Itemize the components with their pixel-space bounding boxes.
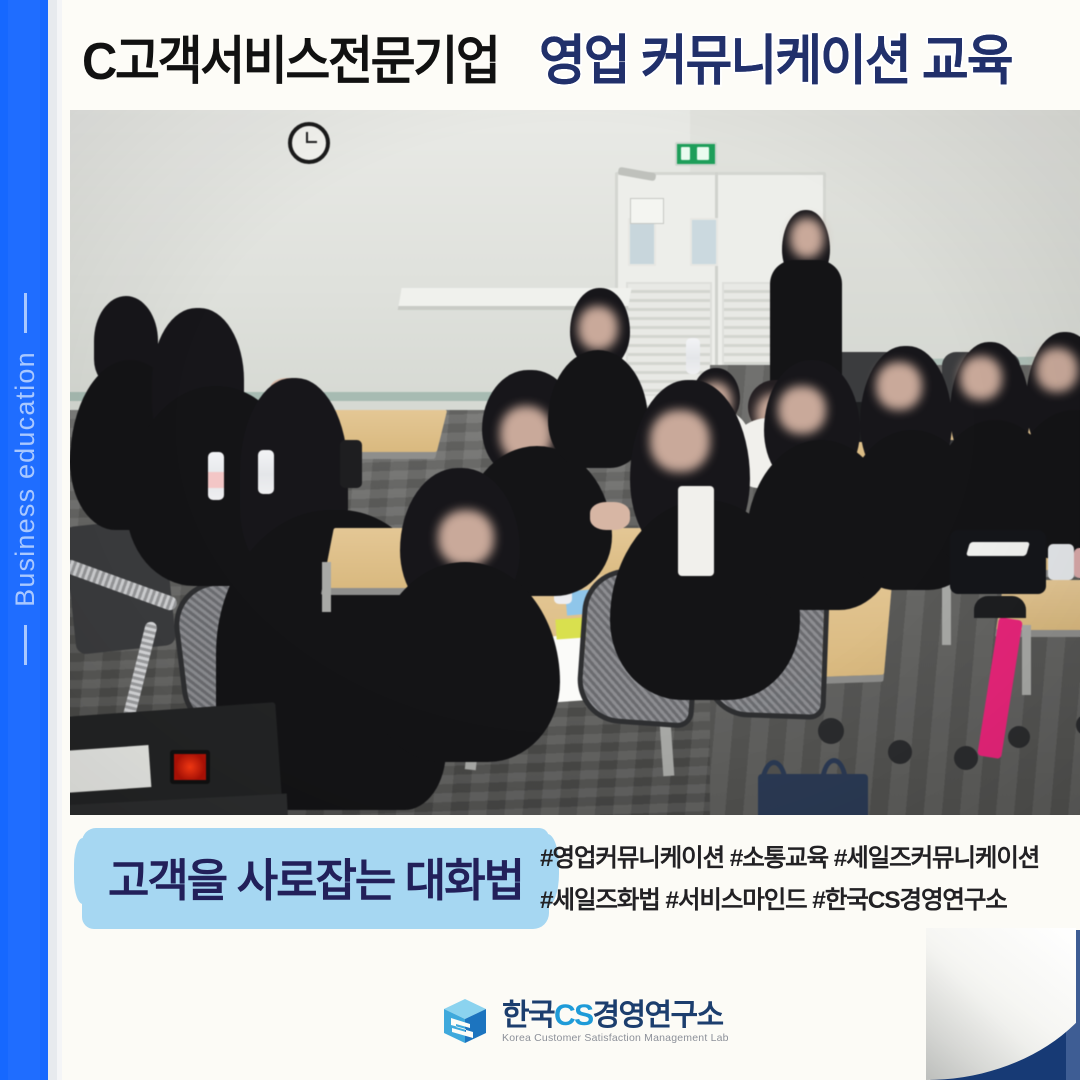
photo-bottle-6 xyxy=(686,338,700,374)
sidebar-edge-light-2 xyxy=(57,0,62,1080)
photo-person-face-k xyxy=(876,362,922,410)
cs-cube-logo-icon xyxy=(442,998,488,1046)
caption-block: 고객을 사로잡는 대화법 xyxy=(82,828,549,929)
photo-chair-caster-1 xyxy=(818,718,844,744)
photo-tumbler xyxy=(340,440,362,488)
poster-card: Business education C고객서비스전문기업 영업 커뮤니케이션 … xyxy=(0,0,1080,1080)
photo-nike-bag xyxy=(950,530,1046,594)
dash-icon-right xyxy=(24,293,27,333)
photo-nike-bag-logo xyxy=(966,542,1030,556)
photo-person-collar-i xyxy=(678,486,714,576)
wall-clock-icon xyxy=(288,122,330,164)
photo-pink-pouch xyxy=(1074,548,1080,578)
brand-name-prefix: 한국 xyxy=(502,999,554,1032)
photo-tote-handle-left xyxy=(760,760,788,812)
photo-bottle-5 xyxy=(258,450,274,494)
brand-name-suffix: 경영연구소 xyxy=(592,999,722,1032)
photo-bottle-4-label xyxy=(208,472,224,488)
photo-podium-label xyxy=(70,745,151,793)
photo-person-hand-i xyxy=(590,502,630,530)
emergency-exit-sign-icon xyxy=(675,142,717,166)
photo-person-face-h xyxy=(578,306,618,350)
photo-chair-caster-3 xyxy=(954,746,978,770)
header-bar: C고객서비스전문기업 영업 커뮤니케이션 교육 xyxy=(62,0,1080,110)
training-photo: A.P.C. xyxy=(70,110,1080,815)
caption-text: 고객을 사로잡는 대화법 xyxy=(108,855,523,906)
photo-instructor-face xyxy=(790,218,824,258)
hashtag-block: #영업커뮤니케이션 #소통교육 #세일즈커뮤니케이션 #세일즈화법 #서비스마인… xyxy=(540,838,1039,922)
sidebar-vertical-label-group: Business education xyxy=(1,244,49,714)
hashtag-line-2: #세일즈화법 #서비스마인드 #한국CS경영연구소 xyxy=(540,880,1039,922)
photo-podium-indicator-light xyxy=(170,750,210,784)
photo-chair-caster-4 xyxy=(1008,726,1030,748)
page-title-blue: 영업 커뮤니케이션 교육 xyxy=(539,16,1012,95)
caption-highlight: 고객을 사로잡는 대화법 xyxy=(82,828,549,929)
brand-logo-text: 한국CS경영연구소 Korea Customer Satisfaction Ma… xyxy=(502,1001,729,1044)
photo-person-face-i xyxy=(650,410,710,472)
dash-icon-left xyxy=(24,625,27,665)
page-title: C고객서비스전문기업 영업 커뮤니케이션 교육 xyxy=(82,16,1042,95)
hashtag-line-1: #영업커뮤니케이션 #소통교육 #세일즈커뮤니케이션 xyxy=(540,838,1039,880)
photo-table-leg-4 xyxy=(1022,625,1031,695)
photo-tote-handle-right xyxy=(820,758,848,810)
photo-door-window-right xyxy=(690,218,718,266)
brand-name-cs: CS xyxy=(554,999,592,1032)
photo-person-face-g xyxy=(438,510,494,566)
photo-person-face-l xyxy=(960,356,1002,400)
photo-wall-panel xyxy=(630,198,664,224)
sidebar-edge-light xyxy=(48,0,57,1080)
page-title-black: C고객서비스전문기업 xyxy=(82,19,499,94)
sidebar-vertical-label: Business education xyxy=(10,351,41,607)
photo-person-face-j xyxy=(778,386,826,434)
photo-table-leg-5 xyxy=(322,562,331,612)
photo-person-face-m xyxy=(1036,348,1078,392)
brand-subtitle: Korea Customer Satisfaction Management L… xyxy=(502,1032,729,1044)
photo-door-window-left xyxy=(628,218,656,266)
photo-umbrella-handle xyxy=(974,596,1026,618)
photo-chair-caster-2 xyxy=(888,740,912,764)
photo-bottle-7 xyxy=(1048,544,1074,580)
brand-logo: 한국CS경영연구소 Korea Customer Satisfaction Ma… xyxy=(442,998,729,1046)
brand-name: 한국CS경영연구소 xyxy=(502,1001,729,1031)
